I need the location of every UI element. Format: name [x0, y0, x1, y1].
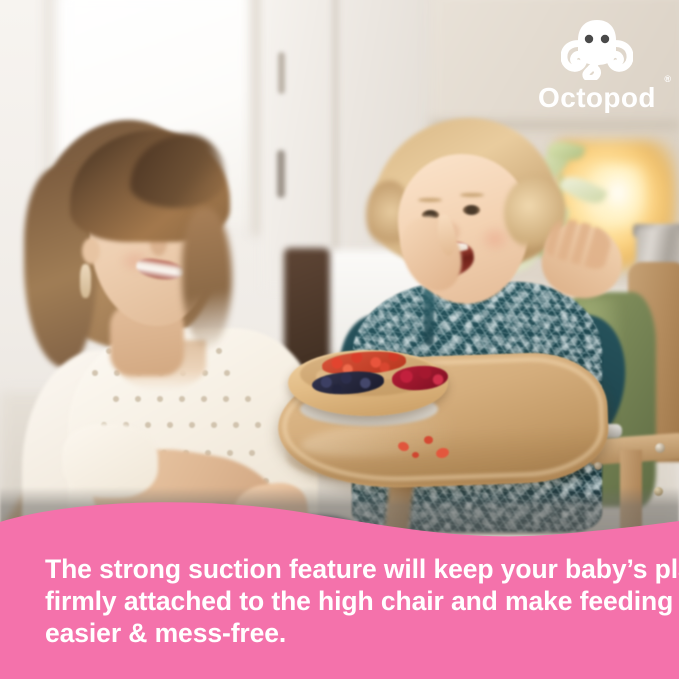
blouse-eyelet [233, 422, 239, 428]
blouse-eyelet [179, 396, 185, 402]
blouse-eyelet [255, 422, 261, 428]
banner-caption: The strong suction feature will keep you… [45, 553, 645, 649]
screw-icon [655, 443, 665, 453]
caption-line-2: firmly attached to the high chair and ma… [45, 585, 645, 617]
baby-eyebrow [460, 193, 484, 197]
mother-earring [80, 264, 91, 298]
photo-shadow-band [0, 487, 679, 535]
baby-eye [463, 205, 480, 215]
blouse-eyelet [92, 370, 98, 376]
blouse-eyelet [223, 396, 229, 402]
mother-hair-strand [182, 208, 232, 348]
food-crumb [424, 436, 433, 444]
blouse-eyelet [227, 450, 233, 456]
trademark-symbol: ® [664, 74, 671, 84]
baby-eyebrow [418, 198, 442, 202]
blouse-eyelet [113, 396, 119, 402]
blouse-eyelet [157, 396, 163, 402]
blouse-eyelet [211, 422, 217, 428]
food-crumb [412, 452, 419, 458]
caption-line-3: easier & mess-free. [45, 617, 645, 649]
blouse-eyelet [167, 422, 173, 428]
mother-ear [82, 238, 100, 264]
blouse-eyelet [249, 450, 255, 456]
blouse-eyelet [224, 370, 230, 376]
screw-icon [594, 462, 602, 470]
blouse-eyelet [189, 422, 195, 428]
blouse-eyelet [145, 422, 151, 428]
brand-logo: Octopod ® [527, 18, 667, 114]
product-feature-card: The strong suction feature will keep you… [0, 0, 679, 679]
brand-wordmark: Octopod [527, 82, 667, 114]
blouse-eyelet [245, 396, 251, 402]
cabinet-handle-top [278, 52, 285, 94]
blouse-eyelet [135, 396, 141, 402]
mother-figure [18, 112, 318, 522]
blouse-eyelet [201, 396, 207, 402]
octopus-logo-icon [561, 18, 633, 80]
cabinet-seam [332, 0, 339, 290]
blouse-eyelet [216, 348, 222, 354]
baby-dress-placket [424, 286, 434, 346]
caption-line-1: The strong suction feature will keep you… [45, 553, 645, 585]
